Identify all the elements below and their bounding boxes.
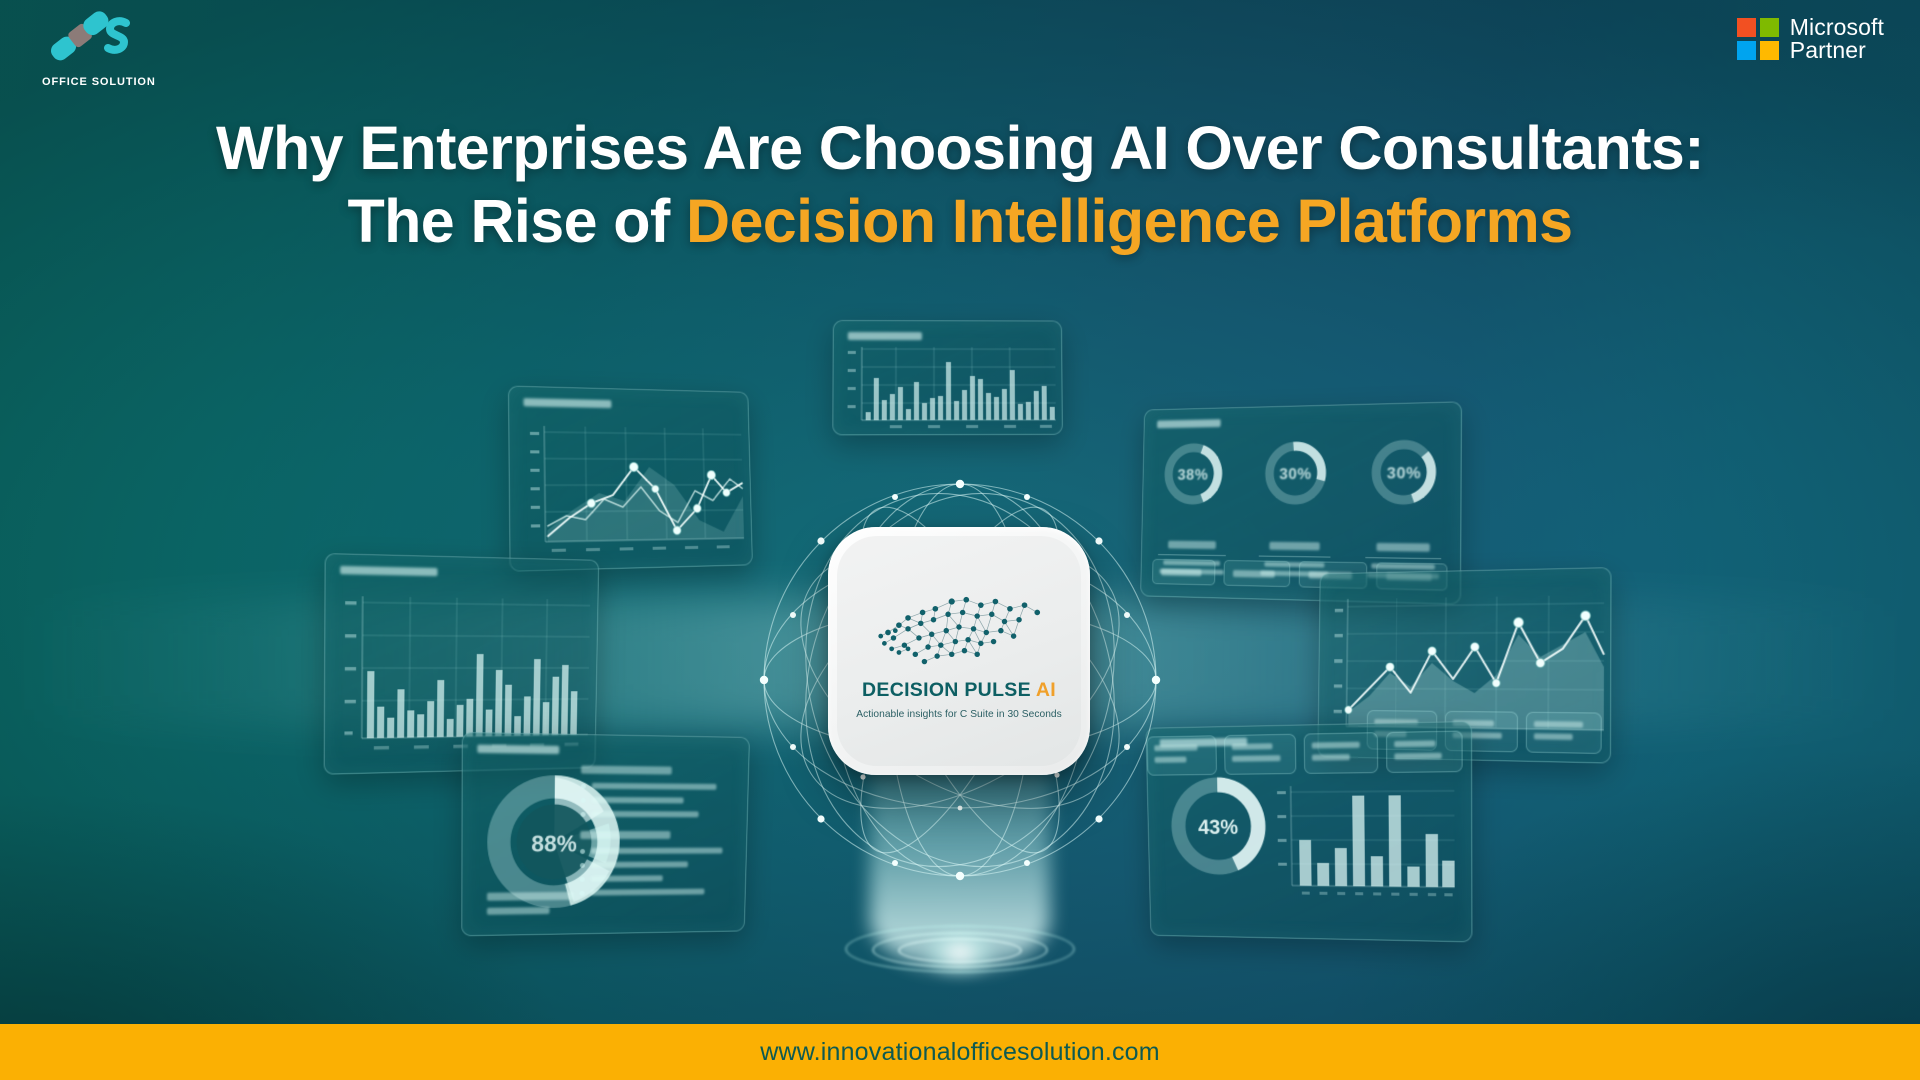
product-tagline: Actionable insights for C Suite in 30 Se… — [856, 709, 1062, 720]
donut-legend — [487, 892, 574, 915]
list-item — [580, 848, 735, 854]
list-header-placeholder — [581, 766, 672, 775]
product-card[interactable]: DECISION PULSE AI Actionable insights fo… — [828, 527, 1090, 775]
line-chart-left — [509, 387, 753, 572]
panel-title-placeholder — [1157, 419, 1221, 428]
ms-square-green — [1760, 18, 1779, 37]
brand-logo[interactable]: OFFICE SOLUTION — [24, 8, 164, 92]
dashboard-panel-top-center[interactable] — [832, 320, 1063, 435]
list-item — [580, 875, 734, 882]
beam-core-glow — [925, 930, 995, 976]
ms-square-red — [1737, 18, 1756, 37]
headline-line-2-plain: The Rise of — [347, 187, 686, 255]
kpi-value: 30% — [1249, 466, 1342, 485]
kpi-card[interactable]: 30% — [1248, 433, 1343, 577]
kpi-label-placeholder — [1269, 542, 1319, 551]
dashboard-panel-left-line[interactable] — [508, 386, 753, 572]
page-title: Why Enterprises Are Choosing AI Over Con… — [0, 112, 1920, 257]
donut-center-value: 88% — [531, 830, 577, 856]
mini-chip[interactable] — [1224, 734, 1296, 775]
microsoft-logo-icon — [1737, 18, 1779, 60]
donut-center-value: 43% — [1198, 816, 1238, 839]
panel-title-placeholder — [477, 745, 559, 754]
headline-highlight: Decision Intelligence Platforms — [686, 187, 1572, 255]
metric-list — [579, 766, 736, 904]
microsoft-partner-badge: Microsoft Partner — [1737, 16, 1884, 63]
headline-line-1: Why Enterprises Are Choosing AI Over Con… — [40, 112, 1880, 185]
mini-chip[interactable] — [1526, 712, 1602, 754]
ms-square-blue — [1737, 41, 1756, 60]
footer-bar: www.innovationalofficesolution.com — [0, 1024, 1920, 1080]
panel-mini-chips — [1147, 731, 1463, 776]
list-item — [581, 811, 736, 818]
list-item — [580, 861, 735, 868]
list-item — [580, 888, 734, 895]
partner-line-2: Partner — [1790, 39, 1884, 62]
list-item — [581, 783, 737, 790]
mini-chip[interactable] — [1304, 732, 1379, 774]
kpi-card[interactable]: 30% — [1354, 431, 1453, 579]
microsoft-partner-text: Microsoft Partner — [1790, 16, 1884, 63]
mini-chip[interactable] — [1386, 731, 1463, 773]
panel-title-placeholder — [848, 332, 922, 340]
product-name: DECISION PULSE AI — [862, 679, 1056, 702]
bar-chart-bottom-right — [1269, 776, 1461, 909]
dashboard-panel-bottom-left[interactable]: 88% — [461, 732, 750, 936]
product-name-accent: AI — [1036, 679, 1056, 701]
brand-name-text: OFFICE SOLUTION — [42, 76, 156, 88]
kpi-value: 30% — [1355, 465, 1453, 484]
headline-line-2: The Rise of Decision Intelligence Platfo… — [40, 185, 1880, 258]
neural-network-icon — [868, 581, 1050, 673]
kpi-row: 38% 30% — [1142, 431, 1461, 579]
list-item — [581, 797, 736, 804]
dashboard-panel-bottom-right[interactable]: 43% — [1145, 721, 1472, 942]
banner-canvas: OFFICE SOLUTION Microsoft Partner Why En… — [0, 0, 1920, 1080]
product-name-main: DECISION PULSE — [862, 679, 1036, 701]
chip-button[interactable] — [1224, 560, 1290, 587]
kpi-label-placeholder — [1377, 543, 1430, 552]
partner-line-1: Microsoft — [1790, 16, 1884, 39]
ms-square-yellow — [1760, 41, 1779, 60]
website-url[interactable]: www.innovationalofficesolution.com — [760, 1038, 1160, 1067]
os-monogram-icon — [42, 10, 142, 77]
